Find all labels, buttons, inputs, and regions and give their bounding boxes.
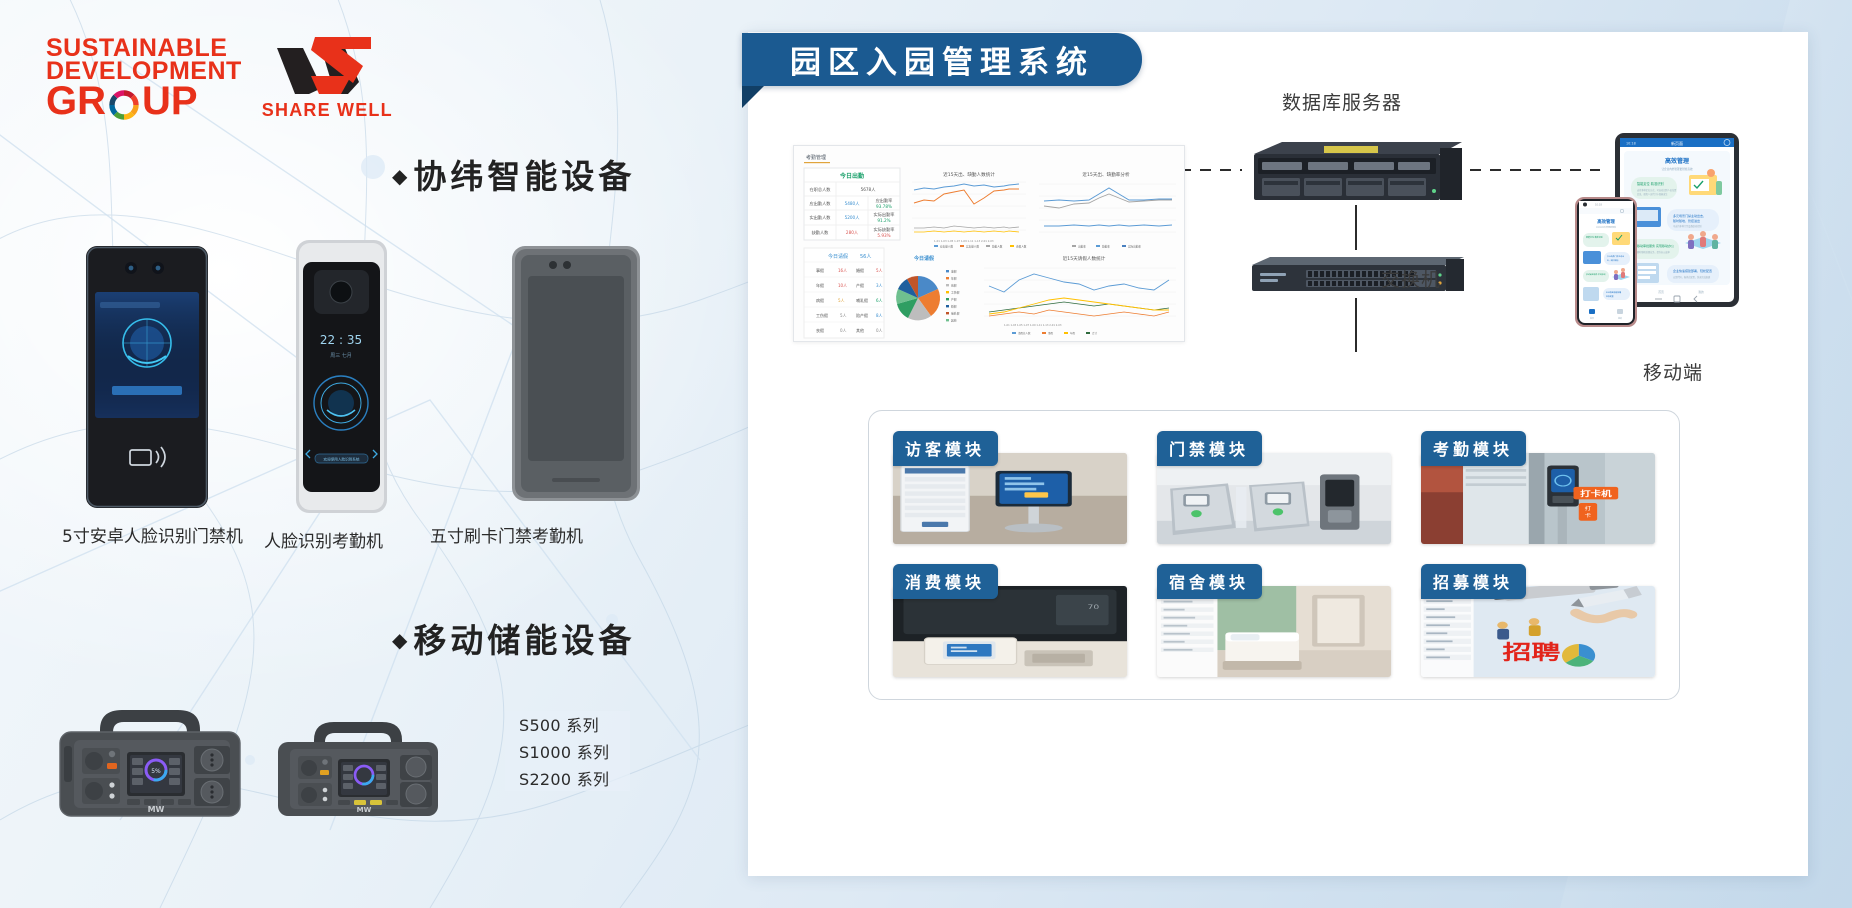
module-card-attendance[interactable]: 考勤模块 — [1421, 433, 1655, 544]
svg-text:3人: 3人 — [876, 283, 883, 288]
svg-text:缺勤人数: 缺勤人数 — [812, 229, 830, 236]
svg-text:今日出勤: 今日出勤 — [839, 172, 864, 180]
module-card-dormitory[interactable]: 宿舍模块 — [1157, 566, 1391, 677]
svg-text:病假: 病假 — [951, 284, 957, 288]
module-card-consumption[interactable]: 消费模块 70 — [893, 566, 1127, 677]
svg-text:1-01 1-03 1-05 1-07 1-09: 1-01 1-03 1-05 1-07 1-09 1-11 1-13 2-01 … — [934, 239, 994, 243]
svg-text:280人: 280人 — [846, 230, 859, 235]
svg-text:5480人: 5480人 — [845, 201, 861, 206]
svg-text:婚假: 婚假 — [951, 305, 957, 309]
module-tag-attendance: 考勤模块 — [1421, 431, 1526, 466]
section-heading-devices-label: 协纬智能设备 — [413, 157, 635, 196]
svg-text:实际出勤率: 实际出勤率 — [874, 211, 895, 218]
module-tag-recruitment: 招募模块 — [1421, 564, 1526, 599]
svg-text:5678人: 5678人 — [861, 187, 877, 192]
svg-text:56人: 56人 — [860, 254, 871, 260]
portable-power-station-1: 5% MW — [52, 700, 248, 825]
svg-text:1-01 1-03 1-05 1-07 1-: 1-01 1-03 1-05 1-07 1-09 1-11 1-13 2-01 … — [1004, 323, 1062, 327]
svg-text:让企业内外管理更轻松高效: 让企业内外管理更轻松高效 — [1661, 167, 1693, 171]
svg-text:MW: MW — [357, 806, 372, 814]
svg-text:移动审批服务 实现移动办公: 移动审批服务 实现移动办公 — [1637, 243, 1674, 248]
svg-text:缺勤人数: 缺勤人数 — [992, 244, 1003, 248]
device2-clock: 22 : 35 — [320, 333, 362, 347]
modules-container: 访客模块 — [868, 410, 1680, 700]
svg-text:信息，避免人员代打卡现象发生: 信息，避免人员代打卡现象发生 — [1637, 192, 1668, 196]
sdg-color-wheel-icon — [107, 88, 141, 122]
svg-text:事假: 事假 — [1048, 331, 1054, 335]
device-caption-1: 5寸安卓人脸识别门禁机 — [62, 522, 243, 547]
svg-text:5200人: 5200人 — [845, 215, 861, 220]
svg-text:5人: 5人 — [838, 298, 845, 303]
sdg-line-3-b: UP — [142, 83, 198, 120]
svg-text:婚假: 婚假 — [856, 267, 864, 273]
svg-text:产假: 产假 — [856, 282, 864, 288]
portable-power-station-2: MW — [272, 714, 444, 824]
svg-text:陪产假: 陪产假 — [856, 312, 868, 318]
svg-text:缺勤率: 缺勤率 — [1102, 244, 1110, 248]
energy-series-list: S500 系列 S1000 系列 S2200 系列 — [505, 711, 630, 791]
sharewell-mark-icon — [275, 36, 379, 96]
svg-text:5人: 5人 — [876, 268, 883, 273]
energy-series-item-3: S2200 系列 — [519, 766, 630, 790]
svg-text:5人: 5人 — [840, 313, 847, 318]
svg-text:工伤假: 工伤假 — [951, 291, 960, 295]
sharewell-logo: SHARE WELL — [262, 36, 393, 121]
svg-text:请假总人数: 请假总人数 — [1018, 331, 1031, 335]
svg-text:可支持多种门禁设备联动控制: 可支持多种门禁设备联动控制 — [1673, 224, 1702, 228]
svg-text:应出勤人数: 应出勤人数 — [810, 200, 832, 207]
panel-title: 园区入园管理系统 — [790, 37, 1094, 82]
svg-text:周三 七月: 周三 七月 — [330, 352, 352, 359]
svg-text:6人: 6人 — [876, 298, 883, 303]
module-image-attendance: 打卡机 打 卡 — [1421, 453, 1655, 544]
attendance-dashboard-screenshot: 考勤管理 今日出勤 在职总人数5678人 应出勤人数5480人 应出勤率93.7… — [793, 145, 1185, 342]
svg-text:10:18: 10:18 — [1595, 203, 1602, 206]
dashboard-nav-label: 考勤管理 — [806, 154, 826, 161]
svg-text:事假: 事假 — [816, 267, 824, 273]
svg-text:实际缺勤率: 实际缺勤率 — [874, 226, 895, 233]
svg-text:无需代码，拖拽式配置，快速完成搭建: 无需代码，拖拽式配置，快速完成搭建 — [1673, 275, 1711, 279]
sdg-line-3-a: GR — [46, 83, 106, 120]
svg-text:招聘: 招聘 — [1503, 641, 1561, 664]
svg-text:91.2%: 91.2% — [877, 218, 890, 223]
svg-text:16人: 16人 — [838, 268, 847, 273]
svg-text:0人: 0人 — [840, 328, 847, 333]
module-image-consumption: 70 — [893, 586, 1127, 677]
svg-text:出勤率: 出勤率 — [1078, 244, 1086, 248]
svg-text:MW: MW — [148, 805, 165, 814]
module-card-recruitment[interactable]: 招募模块 — [1421, 566, 1655, 677]
svg-text:实际出勤率: 实际出勤率 — [1128, 244, 1141, 248]
sdg-logo: SUSTAINABLE DEVELOPMENT GR — [46, 37, 242, 121]
energy-series-item-2: S1000 系列 — [519, 739, 630, 763]
svg-text:年假: 年假 — [816, 282, 824, 288]
module-tag-visitor: 访客模块 — [893, 431, 998, 466]
svg-text:首页: 首页 — [1658, 290, 1664, 294]
svg-text:卡: 卡 — [1585, 512, 1592, 518]
device-caption-2: 人脸识别考勤机 — [264, 527, 383, 552]
svg-text:年假: 年假 — [1070, 331, 1076, 335]
svg-text:5%: 5% — [151, 768, 161, 775]
svg-text:新页面: 新页面 — [1671, 140, 1683, 146]
svg-text:企业快速搭建部署，轻松配置: 企业快速搭建部署，轻松配置 — [1673, 268, 1712, 273]
svg-text:70: 70 — [1088, 604, 1100, 611]
module-tag-access: 门禁模块 — [1157, 431, 1262, 466]
svg-text:近15天出、缺勤人数统计: 近15天出、缺勤人数统计 — [943, 171, 995, 178]
svg-text:工伤假: 工伤假 — [816, 312, 828, 318]
section-heading-energy-label: 移动储能设备 — [413, 621, 635, 660]
svg-text:丧假: 丧假 — [816, 327, 824, 333]
svg-text:多元场景门禁主动出击，: 多元场景门禁主动出击， — [1673, 213, 1706, 218]
svg-text:智能定位 精准识别: 智能定位 精准识别 — [1637, 181, 1664, 186]
svg-text:实出勤人数: 实出勤人数 — [966, 244, 979, 248]
svg-text:合计: 合计 — [1092, 331, 1098, 335]
label-network-switch: 交换机 — [1381, 265, 1441, 292]
module-image-visitor — [893, 453, 1127, 544]
section-heading-devices: ◆协纬智能设备 — [392, 150, 635, 198]
svg-text:事假: 事假 — [951, 270, 957, 274]
svg-text:产假: 产假 — [951, 298, 957, 302]
sdg-line-3: GR — [46, 83, 242, 120]
svg-text:支持多种定位方式，可自动识别人员位置: 支持多种定位方式，可自动识别人员位置 — [1637, 188, 1677, 192]
svg-text:高效管理: 高效管理 — [1665, 157, 1689, 165]
svg-text:今日请假: 今日请假 — [828, 253, 848, 260]
module-tag-dormitory: 宿舍模块 — [1157, 564, 1262, 599]
svg-text:高效管理: 高效管理 — [1597, 218, 1615, 225]
svg-text:10:18: 10:18 — [1626, 142, 1636, 146]
svg-text:应出勤人数: 应出勤人数 — [940, 244, 953, 248]
svg-text:0人: 0人 — [876, 328, 883, 333]
svg-text:年假: 年假 — [951, 277, 957, 281]
svg-text:其他: 其他 — [856, 327, 864, 333]
svg-text:在职总人数: 在职总人数 — [810, 186, 832, 193]
svg-text:欢迎使用人脸识别系统: 欢迎使用人脸识别系统 — [324, 457, 360, 462]
svg-text:随时随地处理业务，提升办公效率: 随时随地处理业务，提升办公效率 — [1637, 250, 1671, 254]
svg-text:5.93%: 5.93% — [877, 233, 890, 238]
svg-text:实出勤人数: 实出勤人数 — [810, 214, 832, 221]
svg-text:请假人数: 请假人数 — [1016, 244, 1027, 248]
sharewell-name: SHARE WELL — [262, 100, 393, 121]
svg-text:哺乳假: 哺乳假 — [856, 297, 868, 303]
module-image-access — [1157, 453, 1391, 544]
svg-text:打: 打 — [1585, 505, 1592, 511]
device-caption-3: 五寸刷卡门禁考勤机 — [430, 522, 583, 547]
label-database-server: 数据库服务器 — [1282, 88, 1402, 115]
section-heading-energy: ◆移动储能设备 — [392, 614, 635, 662]
bullet-diamond-icon: ◆ — [392, 628, 411, 652]
svg-text:其他: 其他 — [951, 319, 957, 323]
svg-text:病假: 病假 — [816, 297, 824, 303]
svg-text:8人: 8人 — [876, 313, 883, 318]
module-card-access[interactable]: 门禁模块 — [1157, 433, 1391, 544]
svg-text:应出勤率: 应出勤率 — [876, 197, 893, 204]
module-card-visitor[interactable]: 访客模块 — [893, 433, 1127, 544]
svg-text:我的: 我的 — [1698, 290, 1704, 294]
svg-text:近15天请假人数统计: 近15天请假人数统计 — [1063, 255, 1106, 262]
mobile-phone-device: 10:18 高效管理 让企业内外管理更轻松 智能定位 精准识别 多元场景门禁主动… — [1575, 197, 1637, 327]
svg-text:近15天出、缺勤率分析: 近15天出、缺勤率分析 — [1082, 171, 1130, 178]
label-mobile-terminal: 移动端 — [1643, 358, 1703, 385]
svg-text:打卡机: 打卡机 — [1580, 489, 1612, 499]
module-image-recruitment: 招聘 — [1421, 586, 1655, 677]
brand-logo-block: SUSTAINABLE DEVELOPMENT GR — [46, 36, 393, 121]
svg-text:10人: 10人 — [838, 283, 847, 288]
svg-text:随时随地，管控进出: 随时随地，管控进出 — [1673, 218, 1700, 223]
svg-text:今日请假: 今日请假 — [913, 255, 935, 262]
module-tag-consumption: 消费模块 — [893, 564, 998, 599]
database-server-device — [1248, 138, 1468, 204]
panel-title-ribbon: 园区入园管理系统 — [742, 33, 1142, 86]
bullet-diamond-icon: ◆ — [392, 164, 411, 188]
svg-text:哺乳假: 哺乳假 — [951, 312, 960, 316]
energy-series-item-1: S500 系列 — [519, 712, 630, 736]
device-card-access-attendance — [512, 246, 640, 501]
svg-text:93.78%: 93.78% — [876, 204, 892, 209]
device-android-face-access — [86, 246, 208, 508]
poster-canvas: SUSTAINABLE DEVELOPMENT GR — [0, 0, 1852, 908]
device-face-attendance: 22 : 35 周三 七月 欢迎使用人脸识别系统 — [296, 240, 387, 513]
module-image-dormitory — [1157, 586, 1391, 677]
